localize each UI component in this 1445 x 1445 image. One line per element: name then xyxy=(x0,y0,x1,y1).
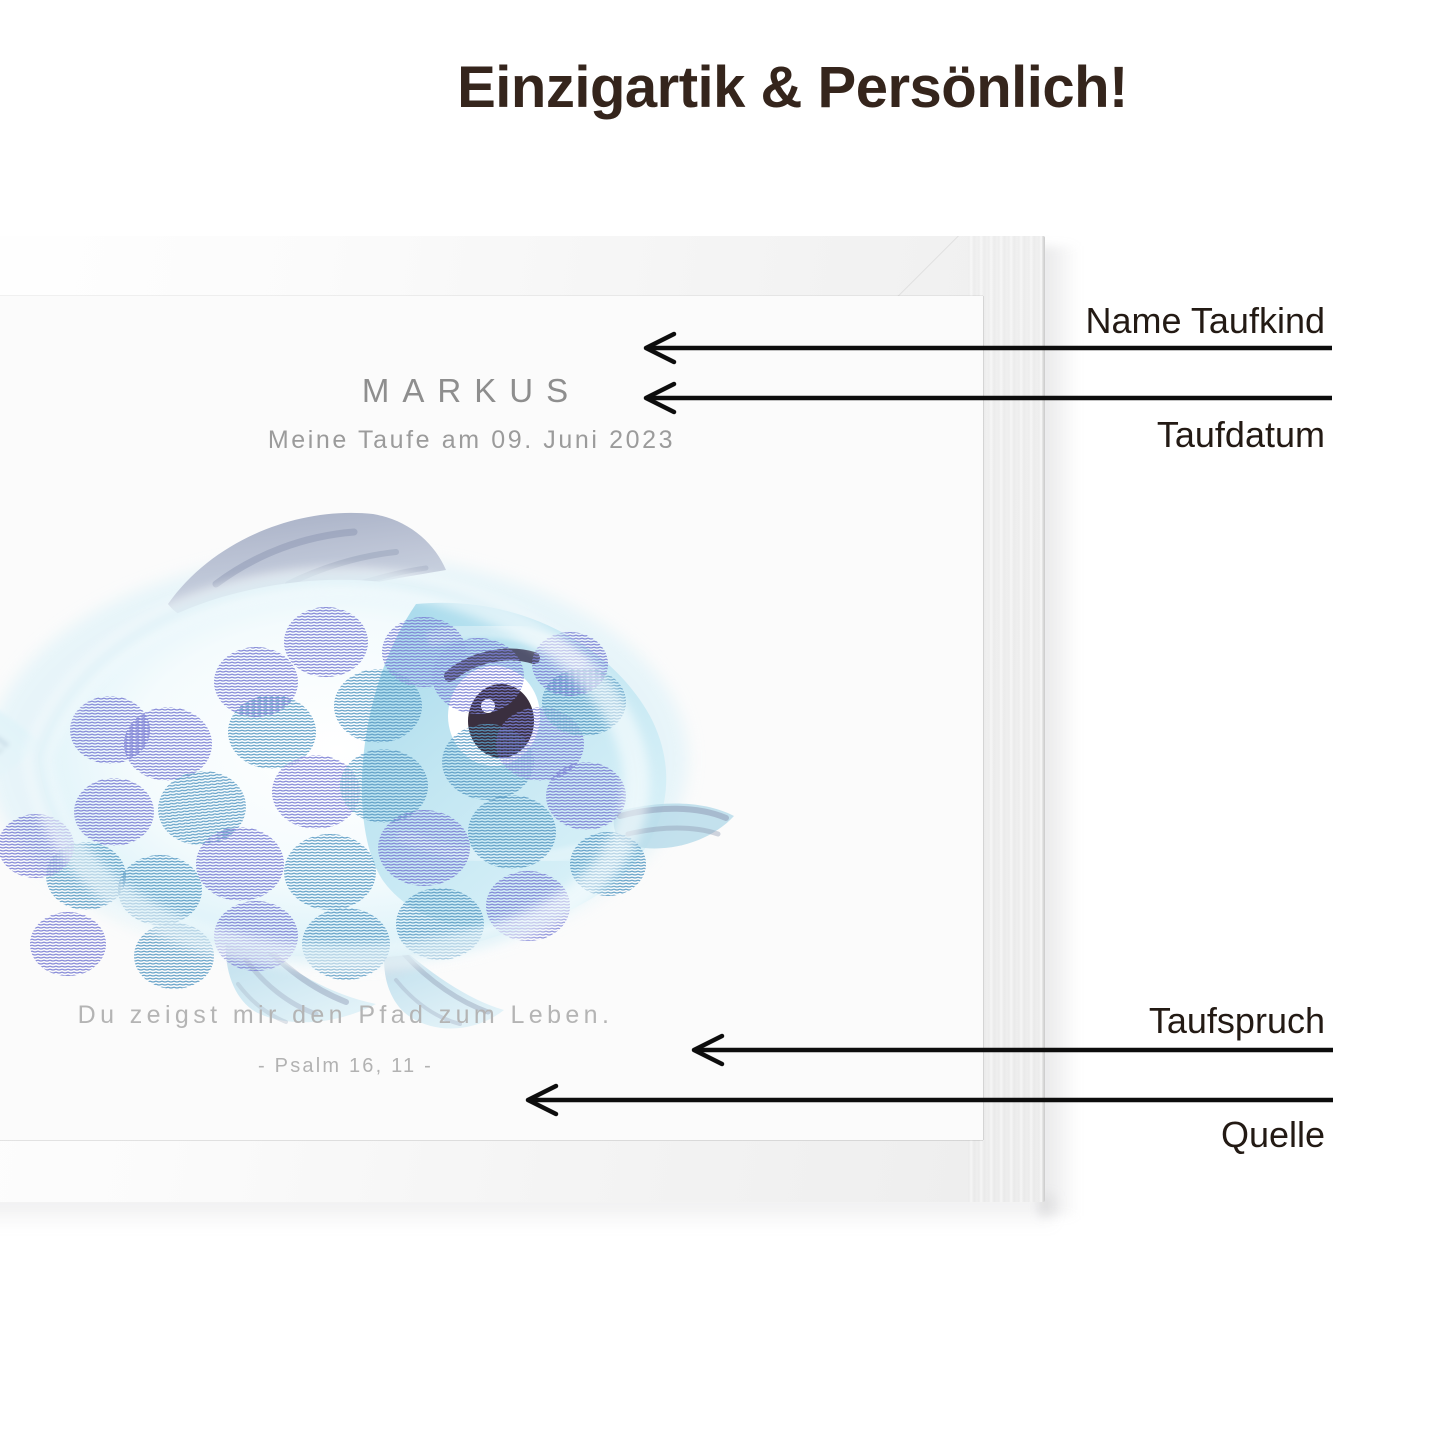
annotation-arrow-name-taufkind xyxy=(640,330,1335,366)
annotation-arrow-taufspruch xyxy=(688,1032,1336,1068)
annotation-arrow-taufdatum xyxy=(640,380,1335,416)
annotation-label-quelle: Quelle xyxy=(1221,1114,1325,1156)
annotation-label-taufdatum: Taufdatum xyxy=(1157,414,1325,456)
annotation-layer: Name Taufkind Taufdatum Taufspruch Quell… xyxy=(0,0,1445,1445)
annotation-arrow-quelle xyxy=(522,1082,1336,1118)
